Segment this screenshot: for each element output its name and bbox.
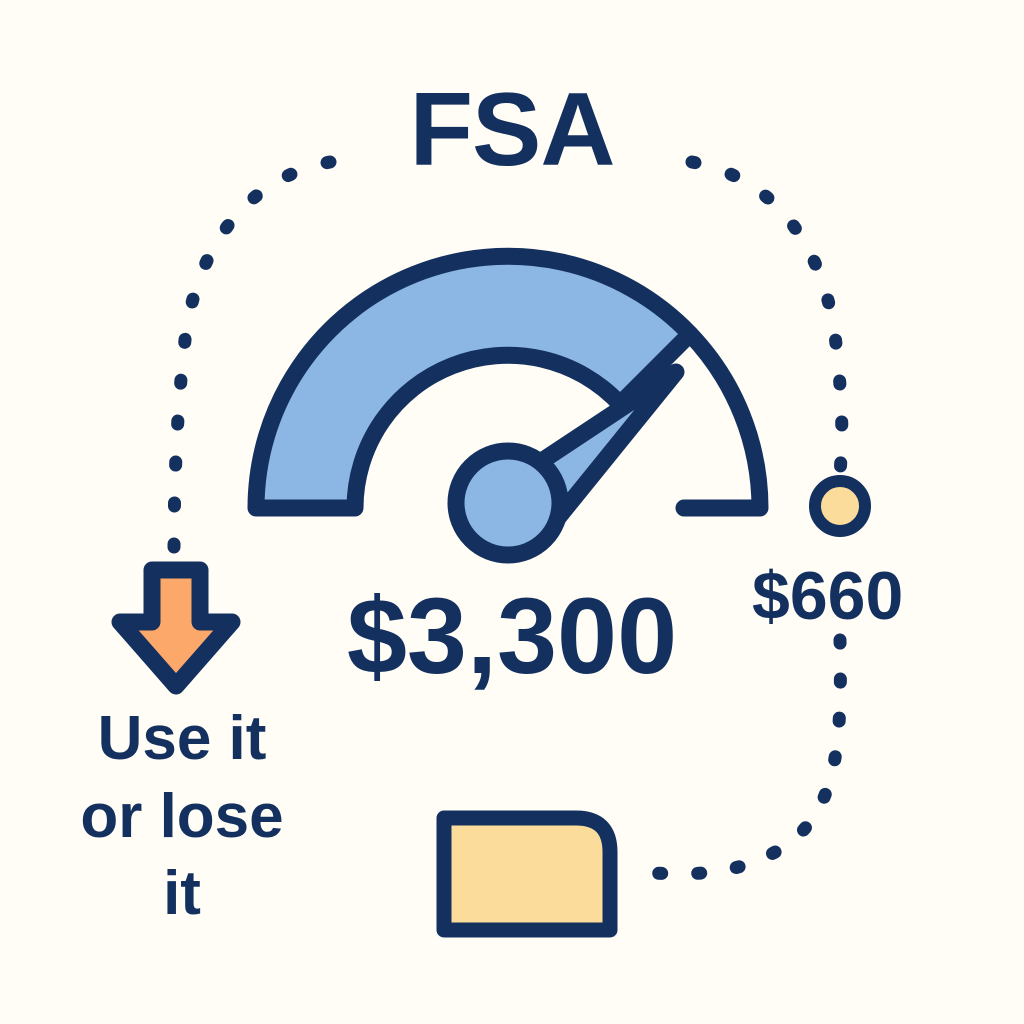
page-title: FSA [0,78,1024,182]
gauge-hub [456,451,560,555]
infographic-canvas: FSA $3,300 $660 Use it or lose it [0,0,1024,1024]
caption-line-1: Use it [98,704,267,773]
use-it-or-lose-it-caption: Use it or lose it [58,700,306,933]
secondary-amount-value: $660 [752,562,903,630]
benefit-card-shape [444,818,610,930]
secondary-amount-marker-dot [815,481,865,531]
gauge-arc-empty [684,334,760,508]
caption-line-2: or lose [80,782,283,851]
right-dotted-connector [692,162,842,474]
caption-line-3: it [163,859,201,928]
